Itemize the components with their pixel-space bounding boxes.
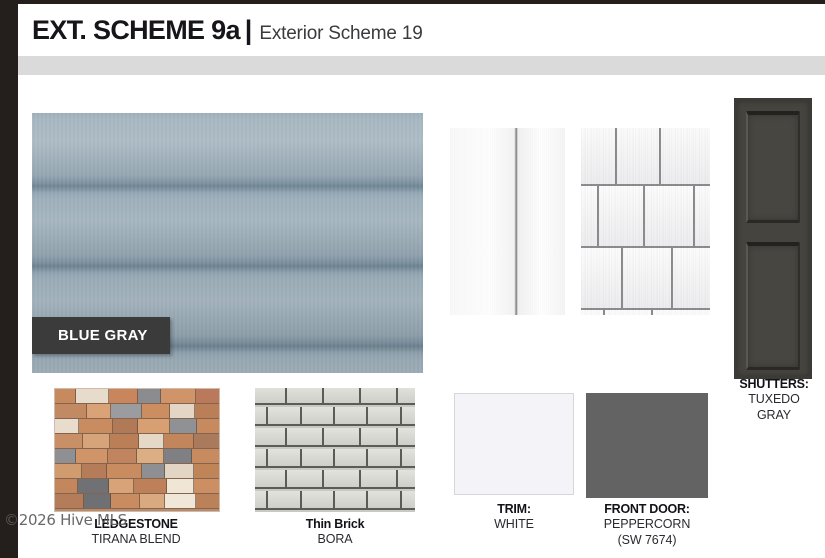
siding-swatch[interactable]: BLUE GRAY xyxy=(32,113,423,373)
page-subtitle: Exterior Scheme 19 xyxy=(259,23,422,45)
caption-line-2: TIRANA BLEND xyxy=(36,532,236,547)
title-separator: | xyxy=(245,15,253,46)
page-header: EXT. SCHEME 9a | Exterior Scheme 19 xyxy=(18,4,825,56)
caption-line-3: GRAY xyxy=(724,408,824,423)
caption-line-3: (SW 7674) xyxy=(574,533,720,548)
page-title: EXT. SCHEME 9a xyxy=(32,15,240,46)
siding-color-badge: BLUE GRAY xyxy=(32,317,170,354)
shutters-caption: SHUTTERS: TUXEDO GRAY xyxy=(724,377,824,423)
caption-line-2: WHITE xyxy=(444,517,584,532)
caption-line-2: BORA xyxy=(240,532,430,547)
caption-line-2: PEPPERCORN xyxy=(574,517,720,532)
front-door-caption: FRONT DOOR: PEPPERCORN (SW 7674) xyxy=(574,502,720,548)
thin-brick-swatch[interactable] xyxy=(255,388,415,512)
shutter-panel-upper xyxy=(746,111,800,223)
front-door-swatch[interactable] xyxy=(586,393,708,498)
header-divider-band xyxy=(18,56,825,75)
board-batten-panel xyxy=(450,128,565,315)
left-border xyxy=(0,0,18,558)
board-batten-grain-texture xyxy=(450,128,565,315)
copyright-watermark: ©2026 Hive MLS xyxy=(4,511,127,529)
caption-line-1: FRONT DOOR: xyxy=(574,502,720,517)
trim-swatch[interactable] xyxy=(454,393,574,495)
caption-line-1: Thin Brick xyxy=(240,517,430,532)
thin-brick-caption: Thin Brick BORA xyxy=(240,517,430,548)
siding-color-label: BLUE GRAY xyxy=(58,327,148,344)
caption-line-1: SHUTTERS: xyxy=(724,377,824,392)
ledgestone-swatch[interactable] xyxy=(54,388,220,512)
shake-grain-texture xyxy=(581,128,710,315)
exterior-scheme-board: EXT. SCHEME 9a | Exterior Scheme 19 BLUE… xyxy=(0,0,825,558)
board-batten-shake-swatch[interactable]: BOARD & BATTEN | SHAKE WHITE xyxy=(450,128,710,315)
caption-line-2: TUXEDO xyxy=(724,392,824,407)
caption-line-1: TRIM: xyxy=(444,502,584,517)
shutter-swatch[interactable] xyxy=(734,98,812,379)
header-title-group: EXT. SCHEME 9a | Exterior Scheme 19 xyxy=(18,15,423,46)
trim-caption: TRIM: WHITE xyxy=(444,502,584,533)
shake-panel xyxy=(581,128,710,315)
materials-board: BLUE GRAY xyxy=(18,75,825,558)
shutter-panel-lower xyxy=(746,242,800,370)
